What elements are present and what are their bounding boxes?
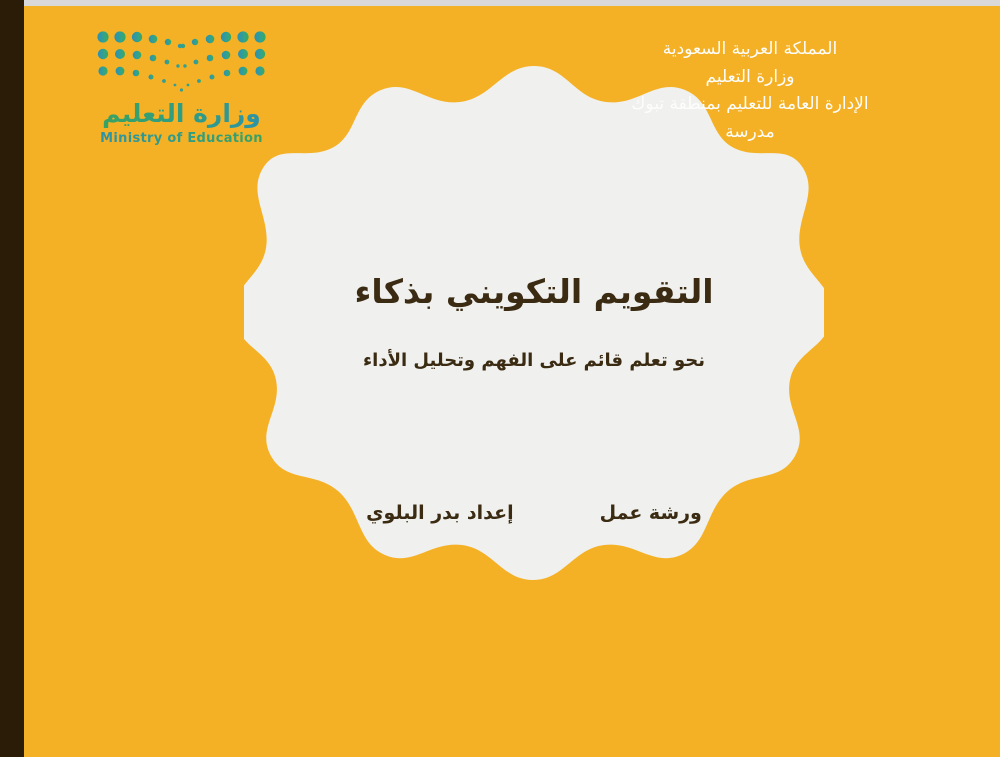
- slide-canvas: وزارة التعليم Ministry of Education المم…: [24, 6, 1000, 757]
- logo-english-text: Ministry of Education: [94, 131, 269, 146]
- government-header: المملكة العربية السعودية وزارة التعليم ا…: [540, 36, 960, 146]
- header-line-ministry: وزارة التعليم: [540, 64, 960, 92]
- credit-author: إعداد بدر البلوي: [366, 502, 514, 524]
- logo-wordmark: وزارة التعليم Ministry of Education: [94, 100, 269, 146]
- left-rail-accent: [0, 0, 24, 757]
- page-title: التقويم التكويني بذكاء: [244, 272, 824, 311]
- logo-arabic-text: وزارة التعليم: [94, 100, 269, 129]
- presentation-slide: وزارة التعليم Ministry of Education المم…: [0, 0, 1000, 757]
- header-line-directorate: الإدارة العامة للتعليم بمنطقة تبوك: [540, 91, 960, 119]
- header-line-school: مدرسة: [540, 119, 960, 147]
- page-subtitle: نحو تعلم قائم على الفهم وتحليل الأداء: [244, 350, 824, 371]
- credits-row: ورشة عمل إعداد بدر البلوي: [244, 502, 824, 524]
- logo-dots-icon: [94, 28, 269, 100]
- header-line-country: المملكة العربية السعودية: [540, 36, 960, 64]
- credit-workshop-type: ورشة عمل: [600, 502, 702, 524]
